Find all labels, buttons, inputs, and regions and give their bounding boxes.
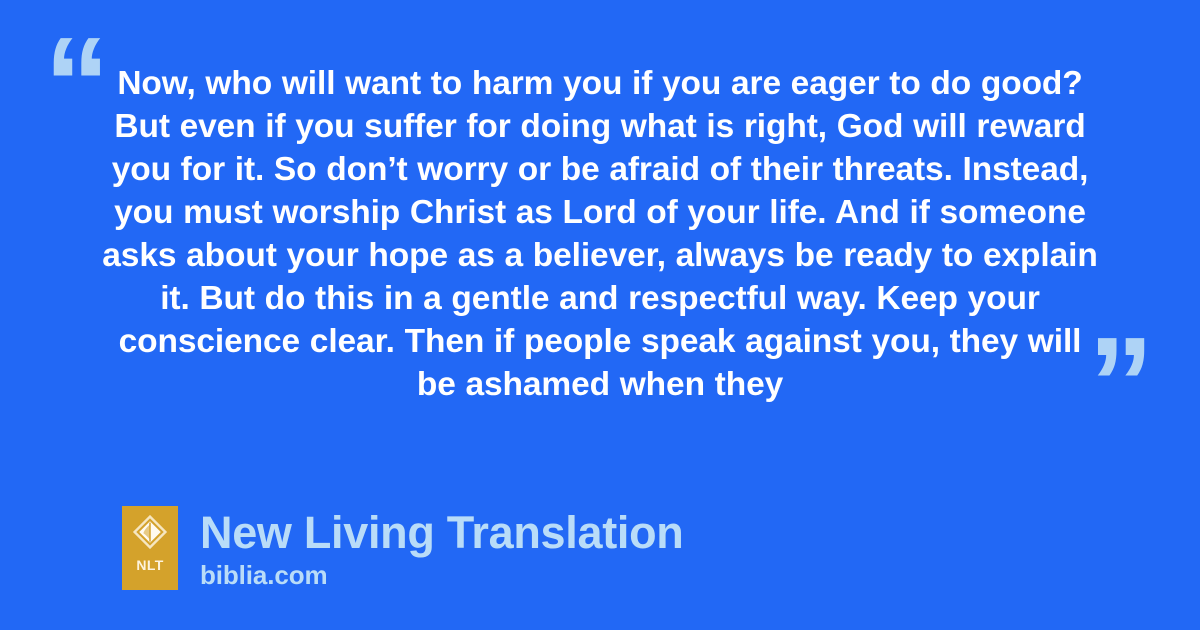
site-url-label: biblia.com: [200, 560, 683, 590]
translation-name-label: New Living Translation: [200, 507, 683, 559]
diamond-book-emblem-icon: [133, 515, 167, 549]
attribution-footer: NLT New Living Translation biblia.com: [122, 506, 683, 590]
nlt-logo-badge: NLT: [122, 506, 178, 590]
verse-text: Now, who will want to harm you if you ar…: [100, 62, 1100, 406]
closing-quote-mark-icon: ”: [1088, 318, 1152, 450]
nlt-abbreviation-label: NLT: [136, 558, 163, 572]
verse-quote-card: “ Now, who will want to harm you if you …: [0, 0, 1200, 630]
opening-quote-mark-icon: “: [44, 18, 108, 150]
attribution-text-group: New Living Translation biblia.com: [200, 506, 683, 590]
verse-text-block: Now, who will want to harm you if you ar…: [100, 62, 1100, 406]
